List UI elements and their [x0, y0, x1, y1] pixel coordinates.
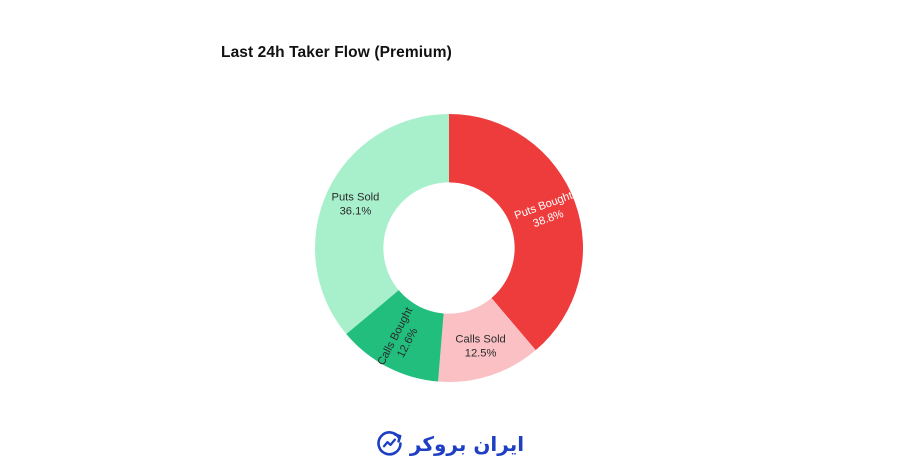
chart-page: Last 24h Taker Flow (Premium) Puts Bough…	[0, 0, 900, 471]
donut-slice-puts-sold[interactable]	[315, 114, 449, 334]
donut-chart-svg: Puts Bought38.8%Calls Sold12.5%Calls Bou…	[0, 0, 900, 471]
slice-name: Puts Sold	[331, 191, 379, 203]
footer-logo: ایران بروکر	[0, 430, 900, 457]
slice-name: Calls Sold	[455, 333, 505, 345]
donut-slice-group	[315, 114, 583, 382]
circular-trend-up-icon	[376, 430, 403, 457]
brand-name: ایران بروکر	[410, 434, 524, 454]
slice-value: 36.1%	[340, 205, 372, 217]
slice-value: 12.5%	[465, 347, 497, 359]
donut-chart: Puts Bought38.8%Calls Sold12.5%Calls Bou…	[0, 0, 900, 471]
